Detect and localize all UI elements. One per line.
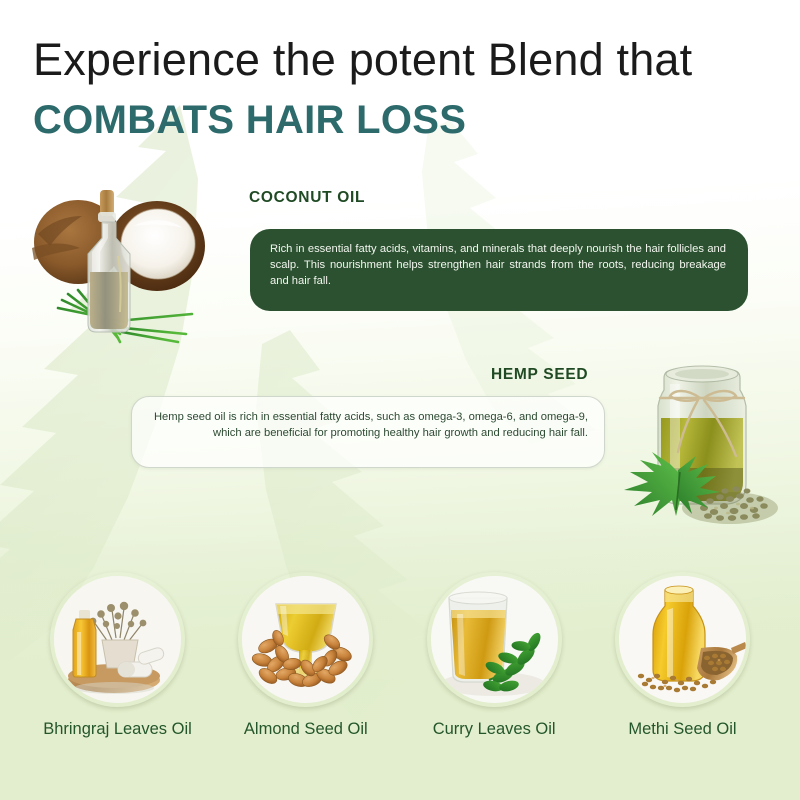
methi-seed-oil-photo (619, 576, 746, 703)
ingredient-circle-frame (615, 572, 750, 707)
ingredient-circle-frame (50, 572, 185, 707)
section-label-coconut-oil: COCONUT OIL (249, 189, 365, 207)
coconut-oil-description-text: Rich in essential fatty acids, vitamins,… (270, 242, 726, 290)
ingredient-circle-frame (238, 572, 373, 707)
section-label-hemp-seed: HEMP SEED (491, 366, 588, 384)
hemp-seed-description-text: Hemp seed oil is rich in essential fatty… (149, 409, 588, 442)
headline-line-1: Experience the potent Blend that (33, 34, 773, 86)
hemp-seed-oil-jar-photo (612, 360, 794, 532)
curry-leaves-oil-photo (431, 576, 558, 703)
ingredient-circle-frame (427, 572, 562, 707)
ingredient-label: Almond Seed Oil (244, 720, 368, 739)
ingredient-label: Curry Leaves Oil (433, 720, 556, 739)
bhringraj-oil-photo (54, 576, 181, 703)
almond-oil-photo (242, 576, 369, 703)
ingredient-item-methi-seed-oil[interactable]: Methi Seed Oil (595, 572, 770, 739)
headline-line-2: COMBATS HAIR LOSS (33, 95, 773, 145)
coconut-oil-description-card: Rich in essential fatty acids, vitamins,… (250, 229, 748, 311)
ingredient-label: Methi Seed Oil (628, 720, 736, 739)
ingredient-item-bhringraj-leaves-oil[interactable]: Bhringraj Leaves Oil (30, 572, 205, 739)
ingredient-circle-row: Bhringraj Leaves Oil (0, 572, 800, 739)
ingredient-item-almond-seed-oil[interactable]: Almond Seed Oil (218, 572, 393, 739)
ingredient-item-curry-leaves-oil[interactable]: Curry Leaves Oil (407, 572, 582, 739)
hemp-seed-description-card: Hemp seed oil is rich in essential fatty… (131, 396, 605, 468)
coconut-oil-bottle-photo (22, 172, 222, 344)
page-title: Experience the potent Blend that COMBATS… (33, 34, 773, 145)
ingredient-label: Bhringraj Leaves Oil (43, 720, 192, 739)
